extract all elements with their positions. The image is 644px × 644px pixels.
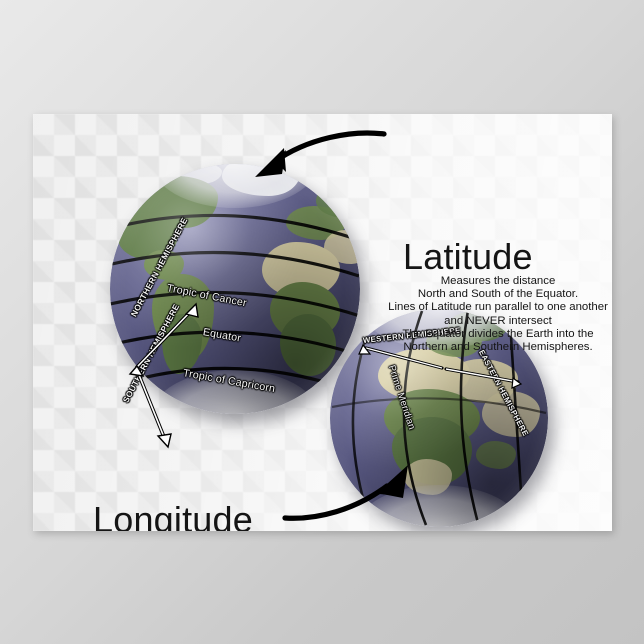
latitude-line-3: Lines of Latitude run parallel to one an…: [363, 301, 612, 314]
latitude-line-6: Northern and Southern Hemispheres.: [363, 341, 612, 354]
poster-scene: Tropic of Cancer Equator Tropic of Capri…: [0, 0, 644, 644]
longitude-title: Longitude: [93, 499, 253, 531]
poster-sheet: Tropic of Cancer Equator Tropic of Capri…: [33, 114, 612, 531]
latitude-line-2: North and South of the Equator.: [363, 288, 612, 301]
latitude-line-5: The Equator divides the Earth into the: [363, 328, 612, 341]
latitude-line-4: and NEVER intersect: [363, 315, 612, 328]
callout-arrow-longitude: [283, 462, 423, 524]
latitude-title: Latitude: [403, 236, 533, 278]
latitude-description: Measures the distance North and South of…: [363, 275, 612, 354]
callout-arrow-latitude: [248, 120, 388, 184]
latitude-line-1: Measures the distance: [363, 275, 612, 288]
measure-arrows-latitude: [128, 292, 208, 452]
